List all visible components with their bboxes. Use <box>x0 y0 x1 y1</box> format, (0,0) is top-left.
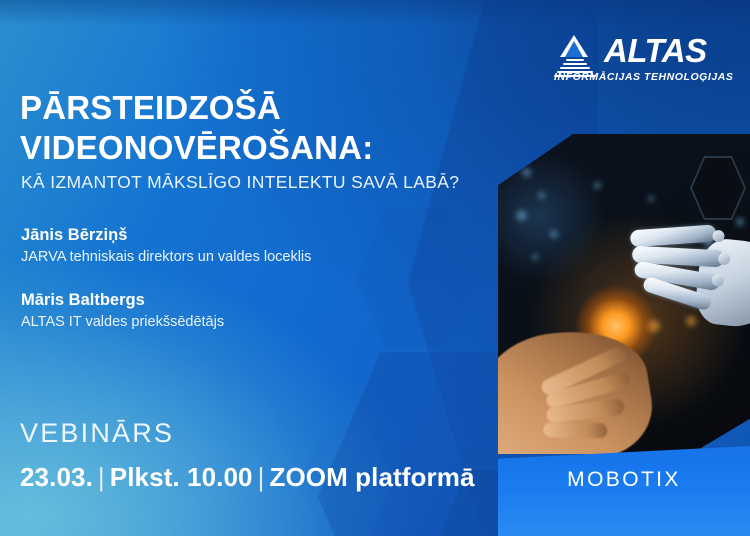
pyramid-step <box>563 63 587 65</box>
altas-logo-wordmark: ALTAS <box>604 33 707 69</box>
robot-finger <box>630 224 717 247</box>
bokeh-dot <box>594 182 601 189</box>
hexagon-outline-overlay-icon <box>690 156 746 220</box>
mobotix-logo-text: MOBOTIX <box>498 468 750 492</box>
pyramid-step <box>560 67 590 69</box>
human-finger <box>543 422 607 438</box>
event-type-label: VEBINĀRS <box>20 418 174 449</box>
top-shade-overlay <box>0 0 750 26</box>
bokeh-dot <box>532 254 538 260</box>
webinar-poster: MOBOTIX ALTAS INFORMĀCIJAS TEHNOLOĢIJAS … <box>0 0 750 536</box>
title-line-2: VIDEONOVĒROŠANA: <box>20 128 373 168</box>
event-date: 23.03. <box>20 462 93 492</box>
robot-hand-graphic <box>615 214 750 341</box>
altas-logo[interactable]: ALTAS INFORMĀCIJAS TEHNOLOĢIJAS <box>552 33 730 93</box>
event-platform: ZOOM platformā <box>269 462 474 492</box>
event-details: 23.03.|Plkst. 10.00|ZOOM platformā <box>20 462 475 493</box>
speaker-1-role: JARVA tehniskais direktors un valdes loc… <box>21 249 311 265</box>
bokeh-dot <box>538 192 545 199</box>
speaker-2-role: ALTAS IT valdes priekšsēdētājs <box>21 314 224 330</box>
altas-logo-tagline: INFORMĀCIJAS TEHNOLOĢIJAS <box>554 71 733 83</box>
title-line-1: PĀRSTEIDZOŠĀ <box>20 88 373 128</box>
speaker-1-name: Jānis Bērziņš <box>21 226 127 245</box>
bokeh-dot <box>648 196 654 202</box>
bokeh-dot <box>522 168 531 177</box>
bokeh-dot <box>550 230 558 238</box>
speaker-2-name: Māris Baltbergs <box>21 291 145 310</box>
bokeh-dot <box>516 210 527 221</box>
pyramid-triangle-icon <box>560 35 588 57</box>
ai-hands-photo <box>498 134 750 454</box>
event-time: Plkst. 10.00 <box>110 462 253 492</box>
event-separator-1: | <box>93 462 110 492</box>
pyramid-step <box>566 59 584 61</box>
page-subtitle: KĀ IZMANTOT MĀKSLĪGO INTELEKTU SAVĀ LABĀ… <box>21 172 459 193</box>
page-title: PĀRSTEIDZOŠĀ VIDEONOVĒROŠANA: <box>20 88 373 168</box>
background-hexagon-4 <box>356 208 476 348</box>
human-hand-graphic <box>498 320 659 454</box>
bokeh-dot <box>736 218 744 226</box>
event-separator-2: | <box>253 462 270 492</box>
